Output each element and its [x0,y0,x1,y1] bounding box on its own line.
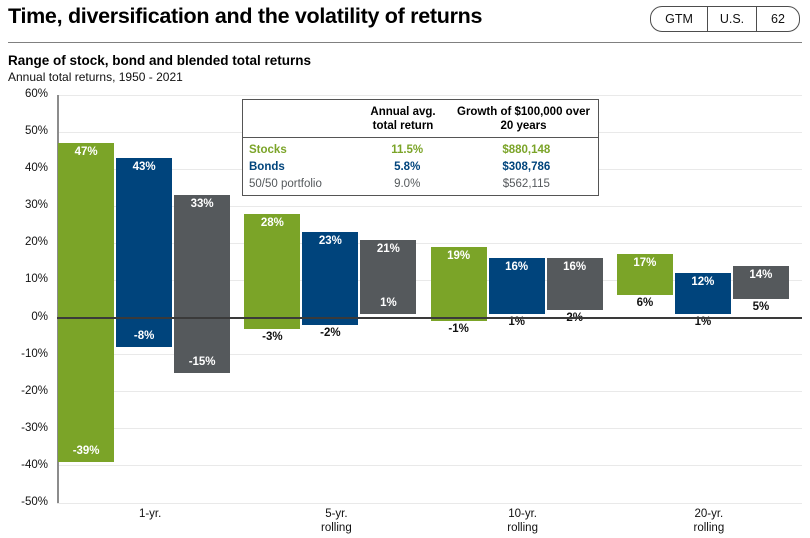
gridline [57,243,802,244]
bar-bonds-5-yr-rolling [302,232,358,325]
bar-min-label: 2% [547,312,603,324]
gridline [57,428,802,429]
summary-col-growth: Growth of $100,000 over 20 years [451,100,596,137]
y-axis-tick-label: -10% [0,348,48,360]
bar-min-label: 1% [675,316,731,328]
x-axis-tick-label: 1-yr. [57,508,243,522]
y-axis-tick-label: 40% [0,162,48,174]
badge-gtm: GTM [651,7,707,31]
x-axis-tick-label-line: rolling [430,522,616,536]
bar-min-label: 5% [733,301,789,313]
y-axis-tick-label: -50% [0,496,48,508]
x-axis-tick-label-line: 5-yr. [243,508,429,522]
y-axis-tick-label: 20% [0,236,48,248]
bar-min-label: 1% [489,316,545,328]
page-title: Time, diversification and the volatility… [8,4,482,29]
badge-page-number: 62 [756,7,799,31]
x-axis-tick-label: 10-yr.rolling [430,508,616,535]
summary-row-blend-return: 9.0% [360,178,455,190]
y-axis-tick-label: -40% [0,459,48,471]
zero-axis-line [57,317,802,319]
bar-max-label: 21% [360,243,416,255]
bar-bonds-10-yr-rolling [489,258,545,314]
bar-max-label: 16% [547,261,603,273]
summary-col-annual-return-line2: total return [355,119,451,133]
summary-row-stocks-growth: $880,148 [455,144,598,156]
chart-subheading: Annual total returns, 1950 - 2021 [8,70,183,84]
summary-row-stocks: Stocks 11.5% $880,148 [243,141,598,158]
bar-max-label: 28% [244,217,300,229]
summary-row-bonds: Bonds 5.8% $308,786 [243,158,598,175]
bar-bonds-20-yr-rolling [675,273,731,314]
badge-region: U.S. [707,7,756,31]
bar-max-label: 23% [302,235,358,247]
bar-min-label: -39% [58,445,114,457]
bar-max-label: 17% [617,257,673,269]
x-axis-tick-label: 20-yr.rolling [616,508,802,535]
y-axis-tick-label: 0% [0,311,48,323]
y-axis-tick-label: 60% [0,88,48,100]
bar-stocks-20-yr-rolling [617,254,673,295]
bar-50-50-portfolio-20-yr-rolling [733,266,789,299]
summary-table-spacer-bottom [243,192,598,195]
summary-table: Annual avg. total return Growth of $100,… [242,99,599,196]
x-axis-tick-label-line: rolling [616,522,802,536]
bar-bonds-1-yr- [116,158,172,347]
summary-row-blend-growth: $562,115 [455,178,598,190]
bar-min-label: 6% [617,297,673,309]
gridline [57,95,802,96]
gridline [57,206,802,207]
bar-50-50-portfolio-1-yr- [174,195,230,373]
gridline [57,391,802,392]
x-axis-tick-label: 5-yr.rolling [243,508,429,535]
bar-50-50-portfolio-10-yr-rolling [547,258,603,310]
bar-max-label: 14% [733,269,789,281]
bar-stocks-10-yr-rolling [431,247,487,321]
x-axis-tick-label-line: 20-yr. [616,508,802,522]
chart-heading: Range of stock, bond and blended total r… [8,53,311,68]
bar-stocks-5-yr-rolling [244,214,300,329]
gridline [57,280,802,281]
y-axis-tick-label: -30% [0,422,48,434]
summary-row-bonds-growth: $308,786 [455,161,598,173]
x-axis-tick-label-line: 1-yr. [57,508,243,522]
bar-max-label: 19% [431,250,487,262]
summary-table-header-row: Annual avg. total return Growth of $100,… [243,100,598,138]
summary-row-stocks-return: 11.5% [360,144,455,156]
y-axis-line [57,95,59,503]
summary-row-stocks-name: Stocks [243,144,360,156]
bar-min-label: 1% [360,297,416,309]
bar-50-50-portfolio-5-yr-rolling [360,240,416,314]
bar-max-label: 12% [675,276,731,288]
bar-min-label: -3% [244,331,300,343]
page-header: Time, diversification and the volatility… [0,0,810,46]
gridline [57,354,802,355]
y-axis-tick-label: 30% [0,199,48,211]
summary-row-blend: 50/50 portfolio 9.0% $562,115 [243,175,598,192]
gtm-badge: GTM U.S. 62 [650,6,800,32]
x-axis-tick-label-line: 10-yr. [430,508,616,522]
bar-stocks-1-yr- [58,143,114,462]
summary-col-growth-line2: 20 years [451,119,596,133]
bar-max-label: 47% [58,146,114,158]
bar-max-label: 16% [489,261,545,273]
summary-row-blend-name: 50/50 portfolio [243,178,360,190]
bar-min-label: -8% [116,330,172,342]
summary-col-annual-return: Annual avg. total return [355,100,451,137]
y-axis-tick-label: 50% [0,125,48,137]
bar-max-label: 33% [174,198,230,210]
gridline [57,465,802,466]
y-axis-tick-label: 10% [0,273,48,285]
y-axis-tick-label: -20% [0,385,48,397]
summary-col-blank [243,100,355,137]
bar-max-label: 43% [116,161,172,173]
summary-col-annual-return-line1: Annual avg. [355,105,451,119]
bar-min-label: -1% [431,323,487,335]
header-divider [8,42,802,43]
x-axis-tick-label-line: rolling [243,522,429,536]
bar-min-label: -2% [302,327,358,339]
gridline [57,503,802,504]
summary-row-bonds-return: 5.8% [360,161,455,173]
bar-min-label: -15% [174,356,230,368]
summary-col-growth-line1: Growth of $100,000 over [451,105,596,119]
summary-row-bonds-name: Bonds [243,161,360,173]
